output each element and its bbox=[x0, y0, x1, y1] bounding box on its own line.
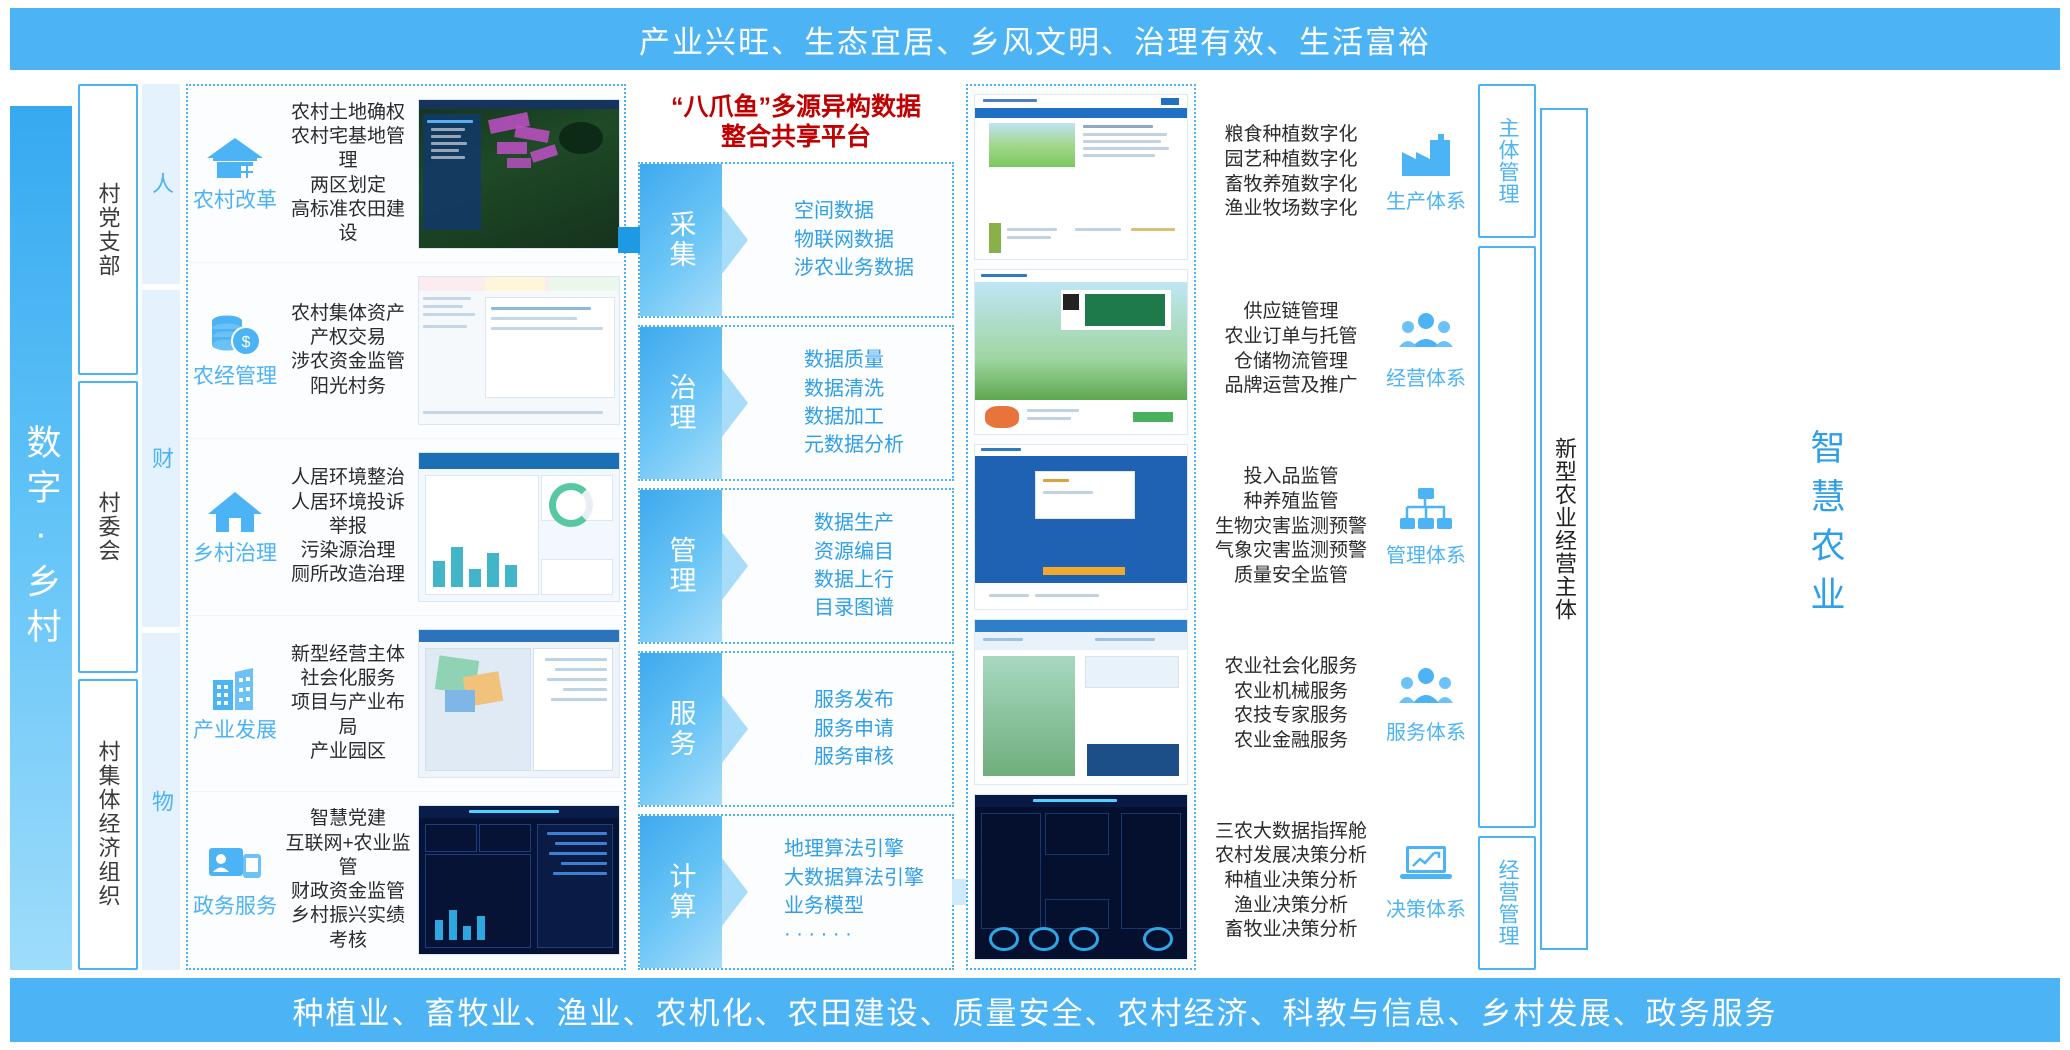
module-thumbnail-gis-map[interactable] bbox=[418, 629, 620, 778]
org-box-label: 村委会 bbox=[96, 491, 119, 563]
factory-icon bbox=[1398, 132, 1454, 183]
org-box-label: 村集体经济组织 bbox=[96, 740, 119, 908]
flow-stage-label: 治理 bbox=[640, 327, 722, 479]
screenshot-food-safety-platform[interactable] bbox=[974, 444, 1188, 610]
module-row-rural-governance[interactable]: 乡村治理 人居环境整治 人居环境投诉举报 污染源治理 厕所改造治理 bbox=[188, 439, 624, 616]
module-icon-wrap: 乡村治理 bbox=[192, 487, 278, 567]
flow-stage-label: 采集 bbox=[640, 164, 722, 316]
resource-label: 人 bbox=[145, 172, 177, 196]
org-box-collective-economy[interactable]: 村集体经济组织 bbox=[78, 679, 138, 970]
right-mid-box-label: 新型农业经营主体 bbox=[1548, 437, 1580, 621]
module-items: 农村土地确权 农村宅基地管理 两区划定 高标准农田建设 bbox=[278, 101, 418, 247]
people-group-icon bbox=[1398, 309, 1454, 360]
platform-title-line2: 整合共享平台 bbox=[721, 122, 871, 153]
module-thumbnail-form-dashboard[interactable] bbox=[418, 276, 620, 425]
org-chart-icon bbox=[1398, 486, 1454, 537]
right-far-label-smart-agriculture: 智慧农业 bbox=[1590, 84, 2060, 970]
buildings-icon bbox=[205, 664, 265, 712]
system-caption: 决策体系 bbox=[1386, 893, 1466, 922]
system-row-decision[interactable]: 三农大数据指挥舱 农村发展决策分析 种植业决策分析 渔业决策分析 畜牧业决策分析… bbox=[1202, 793, 1472, 970]
module-caption: 农经管理 bbox=[193, 360, 277, 390]
right-box-label: 经营管理 bbox=[1496, 859, 1518, 947]
center-platform-column: “八爪鱼”多源异构数据 整合共享平台 采集 空间数据 物联网数据 涉农业务数据 … bbox=[638, 84, 954, 970]
svg-text:$: $ bbox=[242, 334, 251, 351]
flow-row-service[interactable]: 服务 服务发布 服务申请 服务审核 bbox=[638, 651, 954, 807]
module-items: 人居环境整治 人居环境投诉举报 污染源治理 厕所改造治理 bbox=[278, 466, 418, 588]
screenshot-agri-industry-portal[interactable] bbox=[974, 94, 1188, 260]
flow-items: 服务发布 服务申请 服务审核 bbox=[722, 653, 952, 805]
module-row-government-service[interactable]: 政务服务 智慧党建 互联网+农业监管 财政资金监管 乡村振兴实绩考核 bbox=[188, 792, 624, 968]
system-row-service[interactable]: 农业社会化服务 农业机械服务 农技专家服务 农业金融服务 服务体系 bbox=[1202, 616, 1472, 793]
module-row-rural-economy[interactable]: $ 农经管理 农村集体资产 产权交易 涉农资金监管 阳光村务 bbox=[188, 263, 624, 440]
resource-label: 财 bbox=[145, 447, 177, 471]
top-banner: 产业兴旺、生态宜居、乡风文明、治理有效、生活富裕 bbox=[10, 8, 2060, 70]
bottom-banner-text: 种植业、畜牧业、渔业、农机化、农田建设、质量安全、农村经济、科教与信息、乡村发展… bbox=[293, 988, 1778, 1033]
top-banner-text: 产业兴旺、生态宜居、乡风文明、治理有效、生活富裕 bbox=[639, 17, 1431, 62]
resource-column: 人 财 物 bbox=[142, 84, 180, 970]
system-icon-wrap: 服务体系 bbox=[1380, 663, 1472, 745]
flow-row-manage[interactable]: 管理 数据生产 资源编目 数据上行 目录图谱 bbox=[638, 488, 954, 644]
module-caption: 产业发展 bbox=[193, 714, 277, 744]
screenshot-big-data-command[interactable] bbox=[974, 794, 1188, 960]
module-caption: 农村改革 bbox=[193, 184, 277, 214]
right-category-column: 主体管理 经营管理 bbox=[1478, 84, 1536, 970]
org-box-village-committee[interactable]: 村委会 bbox=[78, 381, 138, 672]
right-far-text: 智慧农业 bbox=[1800, 429, 1851, 625]
system-items: 供应链管理 农业订单与托管 仓储物流管理 品牌运营及推广 bbox=[1202, 300, 1380, 399]
right-system-column: 粮食种植数字化 园艺种植数字化 畜牧养殖数字化 渔业牧场数字化 生产体系 供应链… bbox=[1202, 84, 1472, 970]
flow-items: 数据生产 资源编目 数据上行 目录图谱 bbox=[722, 490, 952, 642]
person-screen-icon bbox=[205, 840, 265, 888]
module-row-industry-development[interactable]: 产业发展 新型经营主体 社会化服务 项目与产业布局 产业园区 bbox=[188, 616, 624, 793]
organization-column: 村党支部 村委会 村集体经济组织 bbox=[78, 84, 138, 970]
system-icon-wrap: 管理体系 bbox=[1380, 486, 1472, 568]
system-caption: 管理体系 bbox=[1386, 539, 1466, 568]
module-thumbnail-satellite-map[interactable] bbox=[418, 99, 620, 248]
module-icon-wrap: 农村改革 bbox=[192, 134, 278, 214]
platform-title-line1: “八爪鱼”多源异构数据 bbox=[671, 92, 921, 123]
module-icon-wrap: $ 农经管理 bbox=[192, 310, 278, 390]
module-row-rural-reform[interactable]: 农村改革 农村土地确权 农村宅基地管理 两区划定 高标准农田建设 bbox=[188, 86, 624, 263]
module-caption: 乡村治理 bbox=[193, 537, 277, 567]
coins-dollar-icon: $ bbox=[205, 310, 265, 358]
resource-cell-assets: 物 bbox=[142, 633, 180, 970]
flow-stage-label: 管理 bbox=[640, 490, 722, 642]
service-people-icon bbox=[1398, 663, 1454, 714]
system-items: 三农大数据指挥舱 农村发展决策分析 种植业决策分析 渔业决策分析 畜牧业决策分析 bbox=[1202, 820, 1380, 943]
main-stage: 数字·乡村 村党支部 村委会 村集体经济组织 人 财 物 bbox=[10, 78, 2060, 970]
module-items: 农村集体资产 产权交易 涉农资金监管 阳光村务 bbox=[278, 302, 418, 399]
module-icon-wrap: 产业发展 bbox=[192, 664, 278, 744]
flow-items: 空间数据 物联网数据 涉农业务数据 bbox=[722, 164, 952, 316]
flow-row-compute[interactable]: 计算 地理算法引擎 大数据算法引擎 业务模型 · · · · · · bbox=[638, 814, 954, 970]
left-rail: 数字·乡村 bbox=[10, 106, 72, 970]
right-box-subject-management[interactable]: 主体管理 bbox=[1478, 84, 1536, 238]
flow-stage-label: 计算 bbox=[640, 816, 722, 968]
laptop-chart-icon bbox=[1398, 840, 1454, 891]
system-icon-wrap: 生产体系 bbox=[1380, 132, 1472, 214]
org-box-label: 村党支部 bbox=[96, 182, 119, 278]
system-row-operation[interactable]: 供应链管理 农业订单与托管 仓储物流管理 品牌运营及推广 经营体系 bbox=[1202, 261, 1472, 438]
resource-cell-people: 人 bbox=[142, 84, 180, 284]
screenshot-agri-service-portal[interactable] bbox=[974, 619, 1188, 785]
bottom-banner: 种植业、畜牧业、渔业、农机化、农田建设、质量安全、农村经济、科教与信息、乡村发展… bbox=[10, 978, 2060, 1042]
module-items: 新型经营主体 社会化服务 项目与产业布局 产业园区 bbox=[278, 643, 418, 765]
system-items: 农业社会化服务 农业机械服务 农技专家服务 农业金融服务 bbox=[1202, 655, 1380, 754]
flow-items: 地理算法引擎 大数据算法引擎 业务模型 · · · · · · bbox=[722, 816, 952, 968]
left-rail-label: 数字·乡村 bbox=[16, 424, 67, 653]
system-row-production[interactable]: 粮食种植数字化 园艺种植数字化 畜牧养殖数字化 渔业牧场数字化 生产体系 bbox=[1202, 84, 1472, 261]
system-caption: 经营体系 bbox=[1386, 362, 1466, 391]
module-thumbnail-analytics-dashboard[interactable] bbox=[418, 452, 620, 601]
module-items: 智慧党建 互联网+农业监管 财政资金监管 乡村振兴实绩考核 bbox=[278, 807, 418, 953]
right-mid-box-new-agri-subject[interactable]: 新型农业经营主体 bbox=[1540, 108, 1588, 950]
left-module-panel: 农村改革 农村土地确权 农村宅基地管理 两区划定 高标准农田建设 bbox=[186, 84, 626, 970]
system-row-management[interactable]: 投入品监管 种养殖监管 生物灾害监测预警 气象灾害监测预警 质量安全监管 管理体… bbox=[1202, 438, 1472, 615]
flow-stage-label: 服务 bbox=[640, 653, 722, 805]
right-box-spacer bbox=[1478, 246, 1536, 828]
system-items: 投入品监管 种养殖监管 生物灾害监测预警 气象灾害监测预警 质量安全监管 bbox=[1202, 465, 1380, 588]
home-icon bbox=[205, 487, 265, 535]
module-thumbnail-dark-bi[interactable] bbox=[418, 805, 620, 954]
org-box-party-branch[interactable]: 村党支部 bbox=[78, 84, 138, 375]
flow-row-collect[interactable]: 采集 空间数据 物联网数据 涉农业务数据 bbox=[638, 162, 954, 318]
flow-connector-tab bbox=[618, 227, 640, 253]
house-roof-icon bbox=[205, 134, 265, 182]
platform-title: “八爪鱼”多源异构数据 整合共享平台 bbox=[638, 84, 954, 160]
right-screenshot-panel bbox=[966, 84, 1196, 970]
system-icon-wrap: 经营体系 bbox=[1380, 309, 1472, 391]
resource-label: 物 bbox=[145, 790, 177, 814]
system-icon-wrap: 决策体系 bbox=[1380, 840, 1472, 922]
system-caption: 服务体系 bbox=[1386, 716, 1466, 745]
module-caption: 政务服务 bbox=[193, 890, 277, 920]
resource-cell-finance: 财 bbox=[142, 290, 180, 627]
flow-items: 数据质量 数据清洗 数据加工 元数据分析 bbox=[722, 327, 952, 479]
system-caption: 生产体系 bbox=[1386, 185, 1466, 214]
screenshot-agri-ecommerce[interactable] bbox=[974, 269, 1188, 435]
right-box-label: 主体管理 bbox=[1496, 117, 1518, 205]
right-box-operation-management[interactable]: 经营管理 bbox=[1478, 836, 1536, 970]
platform-flow: 采集 空间数据 物联网数据 涉农业务数据 治理 数据质量 数据清洗 数据加工 元… bbox=[638, 160, 954, 970]
system-items: 粮食种植数字化 园艺种植数字化 畜牧养殖数字化 渔业牧场数字化 bbox=[1202, 123, 1380, 222]
module-icon-wrap: 政务服务 bbox=[192, 840, 278, 920]
flow-row-govern[interactable]: 治理 数据质量 数据清洗 数据加工 元数据分析 bbox=[638, 325, 954, 481]
